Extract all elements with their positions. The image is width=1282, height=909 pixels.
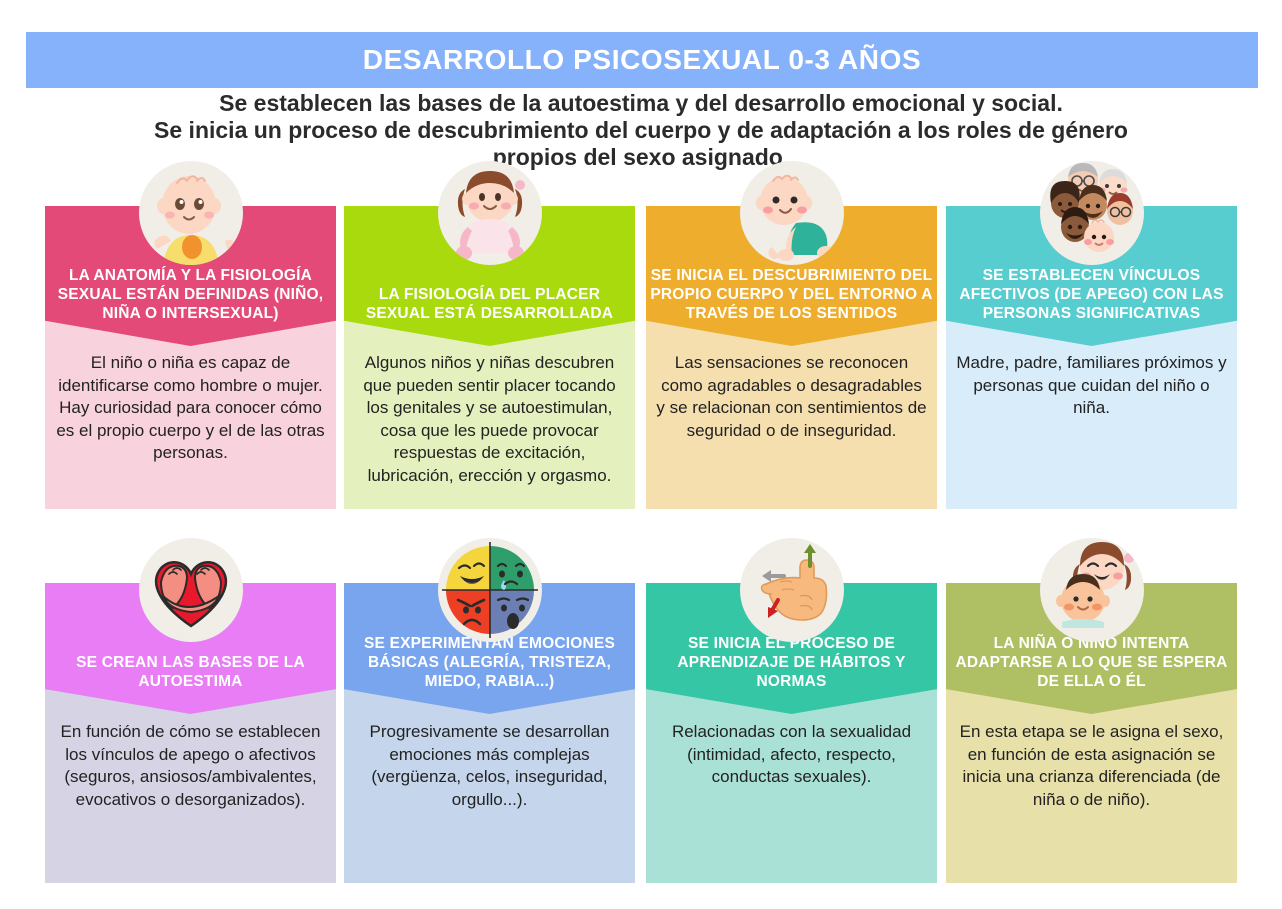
card-description: Algunos niños y niñas descubren que pued… [344, 352, 635, 488]
card-description: El niño o niña es capaz de identificarse… [45, 352, 336, 465]
card-description: Las sensaciones se reconocen como agrada… [646, 352, 937, 442]
card-heading: SE INICIA EL PROCESO DE APRENDIZAJE DE H… [646, 635, 937, 714]
baby-lying-icon [139, 161, 243, 265]
card-habitos-normas[interactable]: SE INICIA EL PROCESO DE APRENDIZAJE DE H… [646, 583, 937, 883]
card-vinculos-afectivos[interactable]: SE ESTABLECEN VÍNCULOS AFECTIVOS (DE APE… [946, 206, 1237, 509]
card-description: En función de cómo se establecen los vín… [45, 721, 336, 811]
card-heading: LA FISIOLOGÍA DEL PLACER SEXUAL ESTÁ DES… [344, 286, 635, 346]
card-heading: SE EXPERIMENTAN EMOCIONES BÁSICAS (ALEGR… [344, 635, 635, 714]
girl-and-baby-icon [1040, 538, 1144, 642]
card-heading: SE INICIA EL DESCUBRIMIENTO DEL PROPIO C… [646, 267, 937, 346]
family-faces-icon [1040, 161, 1144, 265]
card-heading: LA NIÑA O NIÑO INTENTA ADAPTARSE A LO QU… [946, 635, 1237, 714]
card-grid: LA ANATOMÍA Y LA FISIOLOGÍA SEXUAL ESTÁN… [0, 0, 1282, 909]
card-description: Progresivamente se desarrollan emociones… [344, 721, 635, 811]
baby-crawling-icon [740, 161, 844, 265]
pointing-hand-icon [740, 538, 844, 642]
baby-girl-sitting-icon [438, 161, 542, 265]
card-heading: SE CREAN LAS BASES DE LA AUTOESTIMA [45, 654, 336, 714]
card-description: En esta etapa se le asigna el sexo, en f… [946, 721, 1237, 811]
card-adaptacion-roles[interactable]: LA NIÑA O NIÑO INTENTA ADAPTARSE A LO QU… [946, 583, 1237, 883]
card-description: Madre, padre, familiares próximos y pers… [946, 352, 1237, 420]
card-anatomia-fisiologia[interactable]: LA ANATOMÍA Y LA FISIOLOGÍA SEXUAL ESTÁN… [45, 206, 336, 509]
four-emotions-icon [438, 538, 542, 642]
card-heading: SE ESTABLECEN VÍNCULOS AFECTIVOS (DE APE… [946, 267, 1237, 346]
card-description: Relacionadas con la sexualidad (intimida… [646, 721, 937, 789]
card-heading: LA ANATOMÍA Y LA FISIOLOGÍA SEXUAL ESTÁN… [45, 267, 336, 346]
card-emociones-basicas[interactable]: SE EXPERIMENTAN EMOCIONES BÁSICAS (ALEGR… [344, 583, 635, 883]
heart-hug-icon [139, 538, 243, 642]
card-descubrimiento-cuerpo[interactable]: SE INICIA EL DESCUBRIMIENTO DEL PROPIO C… [646, 206, 937, 509]
card-bases-autoestima[interactable]: SE CREAN LAS BASES DE LA AUTOESTIMA En f… [45, 583, 336, 883]
card-fisiologia-placer[interactable]: LA FISIOLOGÍA DEL PLACER SEXUAL ESTÁ DES… [344, 206, 635, 509]
